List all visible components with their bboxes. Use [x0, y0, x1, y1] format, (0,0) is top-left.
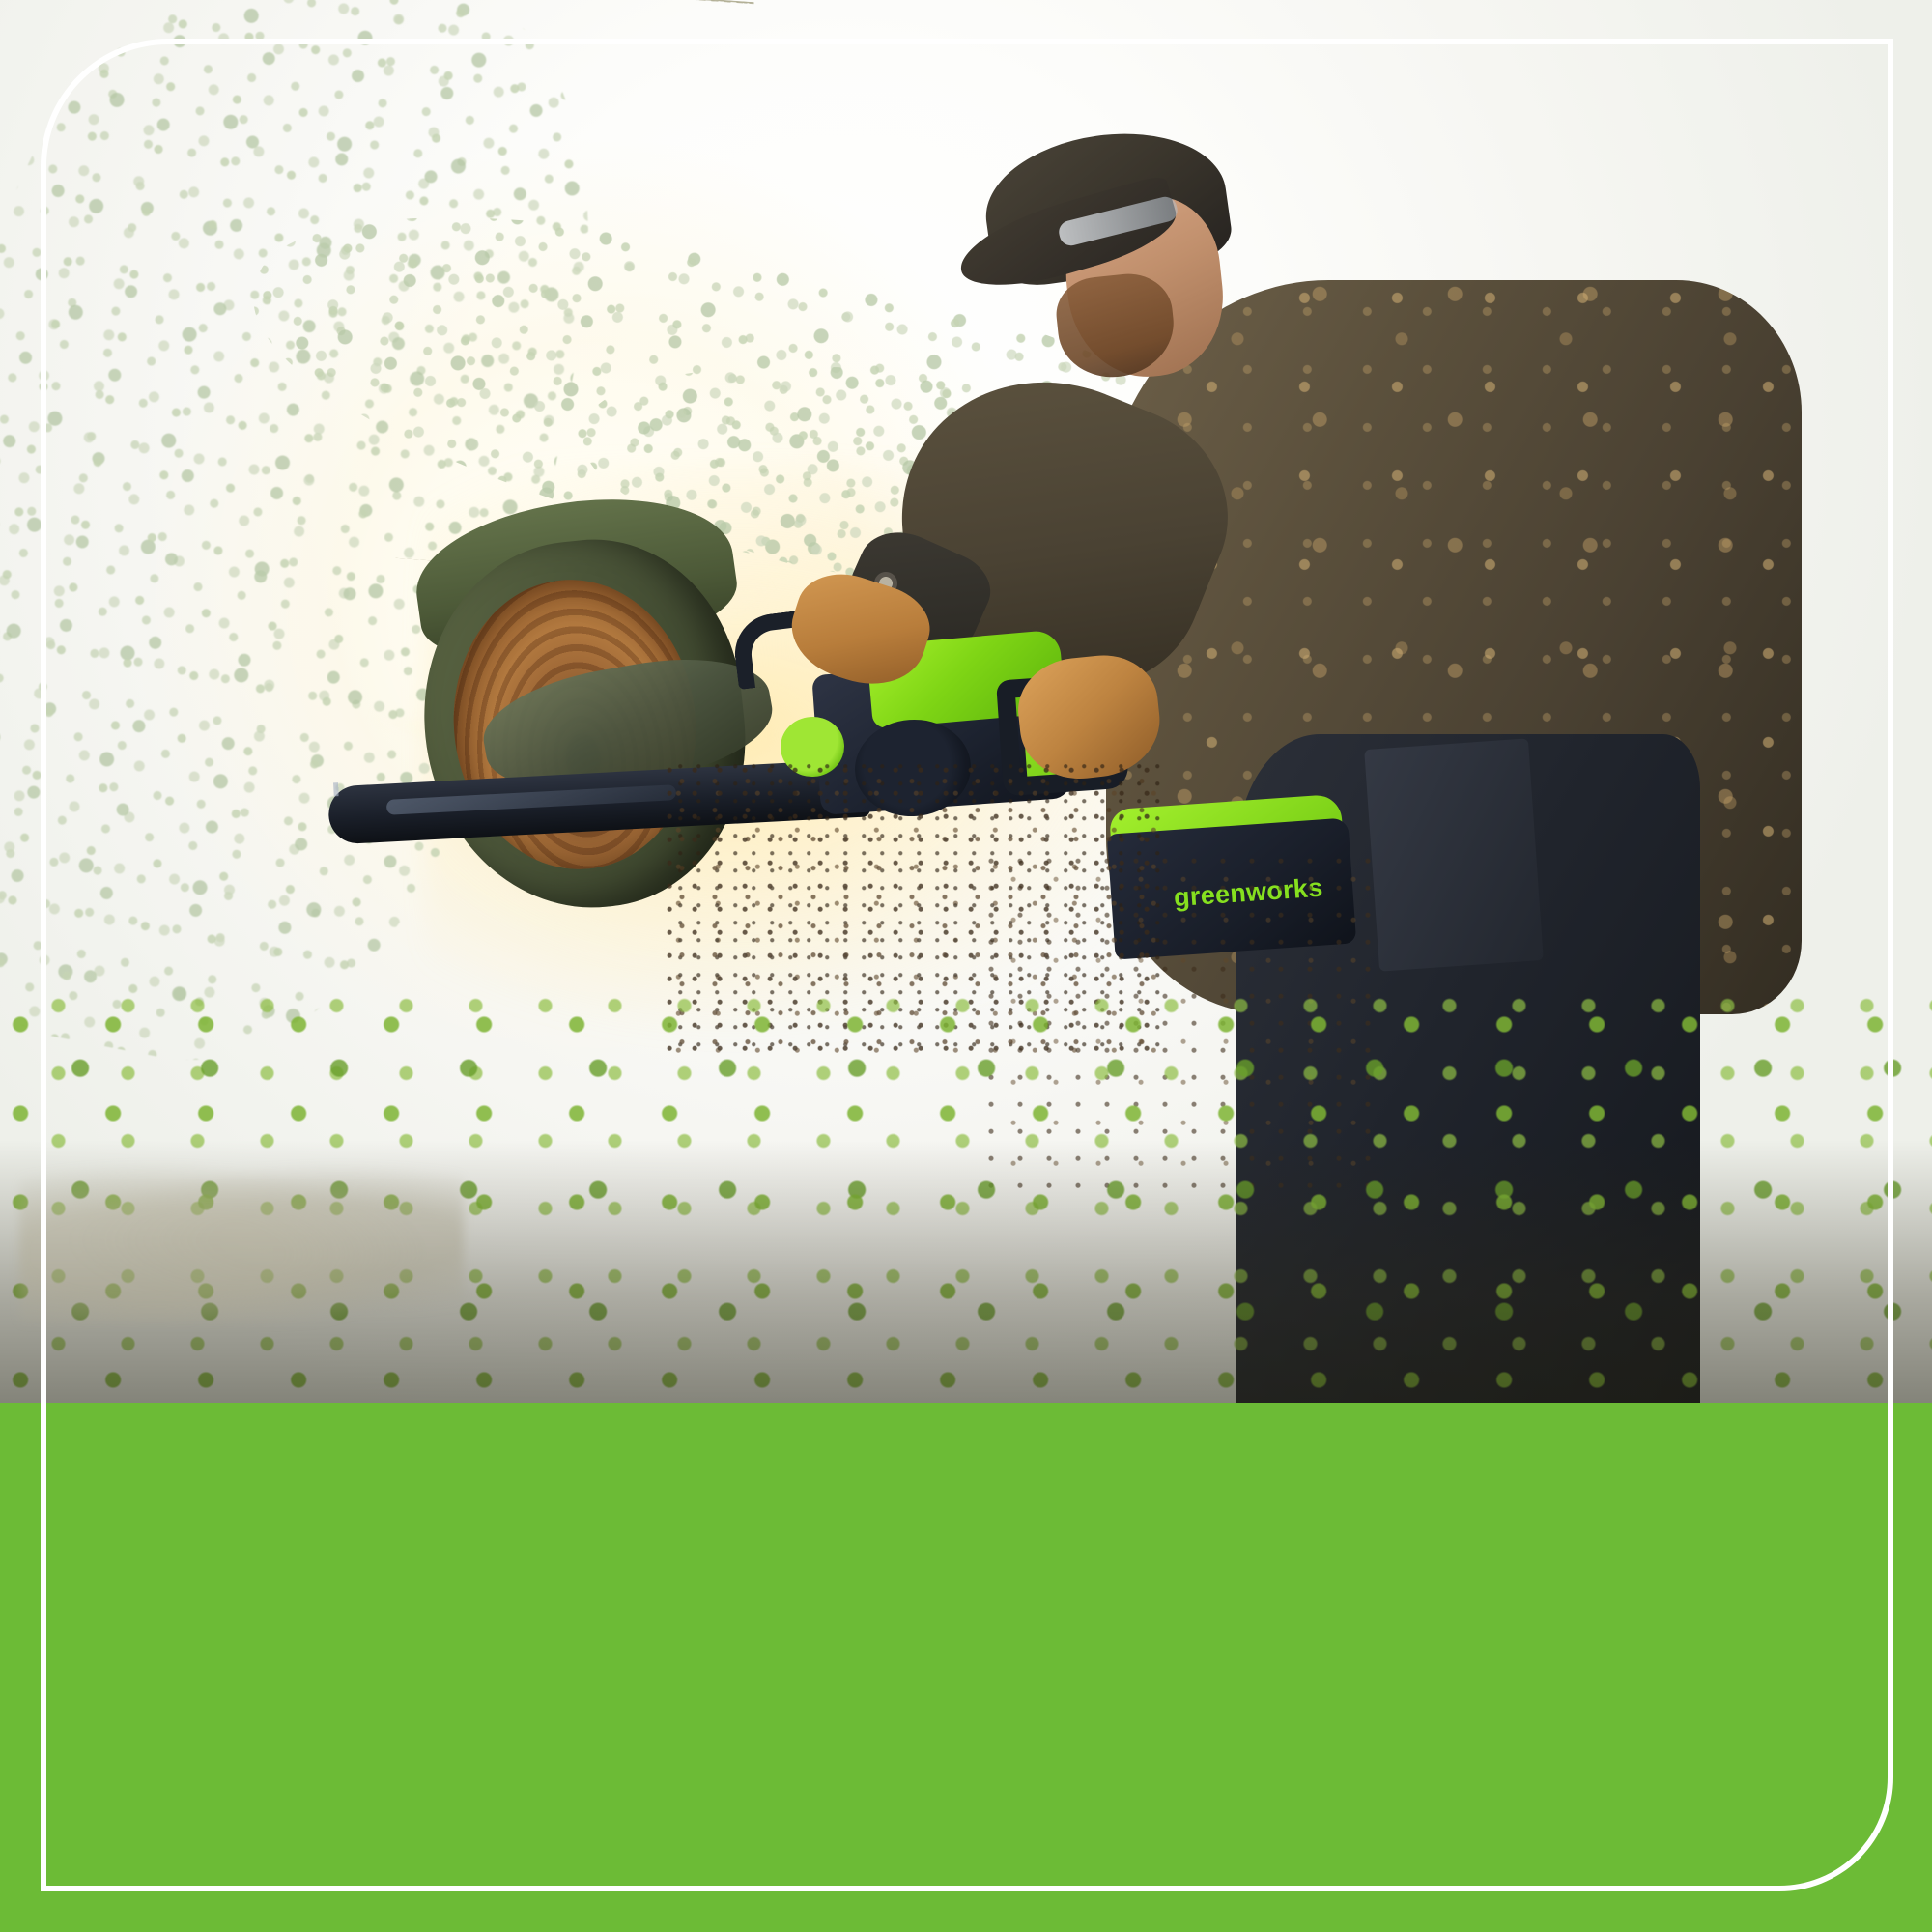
spanish-moss — [0, 0, 377, 1024]
hero-photo: greenworks — [0, 0, 1932, 1406]
caption-band: AUTOMATIC OILER APPLIES TO BAR & CHAIN T… — [0, 1403, 1932, 1932]
pants-pocket — [1364, 738, 1544, 971]
spanish-moss — [395, 0, 753, 581]
banner-root: greenworks AUTOMATIC OILER APPLIES TO BA… — [0, 0, 1932, 1932]
distant-background-blur — [19, 1150, 464, 1323]
